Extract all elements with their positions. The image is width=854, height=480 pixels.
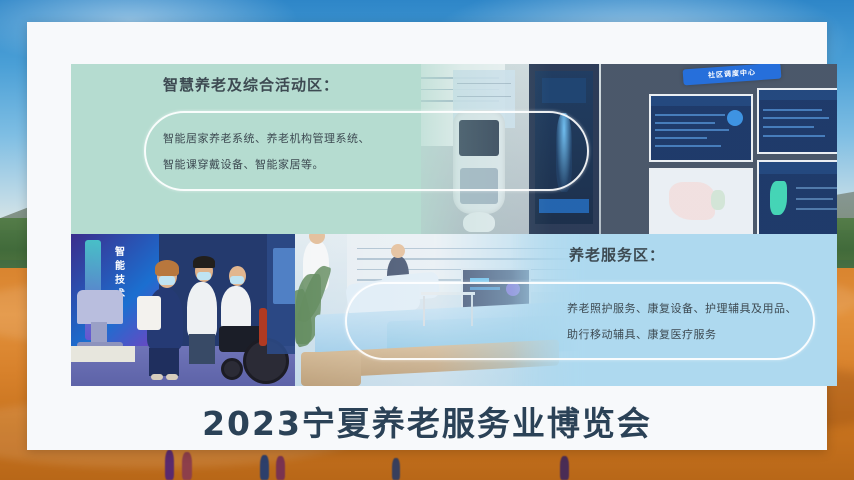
top-band: 社区调度中心 xyxy=(71,64,837,234)
background-figure xyxy=(182,452,192,480)
background-figure xyxy=(276,456,285,480)
poster-content: 社区调度中心 xyxy=(71,64,837,386)
smart-zone-highlight-outline xyxy=(144,111,589,191)
service-zone-heading: 养老服务区： xyxy=(569,244,665,265)
poster-card: 社区调度中心 xyxy=(27,22,827,450)
background-figure xyxy=(260,455,269,480)
poster-title: 2023宁夏养老服务业博览会 xyxy=(27,397,827,445)
background-figure xyxy=(560,456,569,480)
smart-zone-heading: 智慧养老及综合活动区： xyxy=(163,74,339,95)
service-zone-highlight-outline xyxy=(345,282,815,360)
wheelchair-wheel xyxy=(221,358,243,380)
expo-visitor xyxy=(187,282,217,338)
service-zone-body-line-2: 助行移动辅具、康复医疗服务 xyxy=(567,326,717,342)
bottom-band: 智能技术 xyxy=(71,234,837,386)
background-figure xyxy=(392,458,400,480)
smart-zone-body-line-1: 智能居家养老系统、养老机构管理系统、 xyxy=(163,130,370,146)
poster-stage: 社区调度中心 xyxy=(0,0,854,480)
background-figure xyxy=(165,450,174,480)
service-zone-body-line-1: 养老照护服务、康复设备、护理辅具及用品、 xyxy=(567,300,797,316)
photo-expo-visitors: 智能技术 xyxy=(71,234,303,386)
smart-zone-body-line-2: 智能课穿戴设备、智能家居等。 xyxy=(163,156,324,172)
